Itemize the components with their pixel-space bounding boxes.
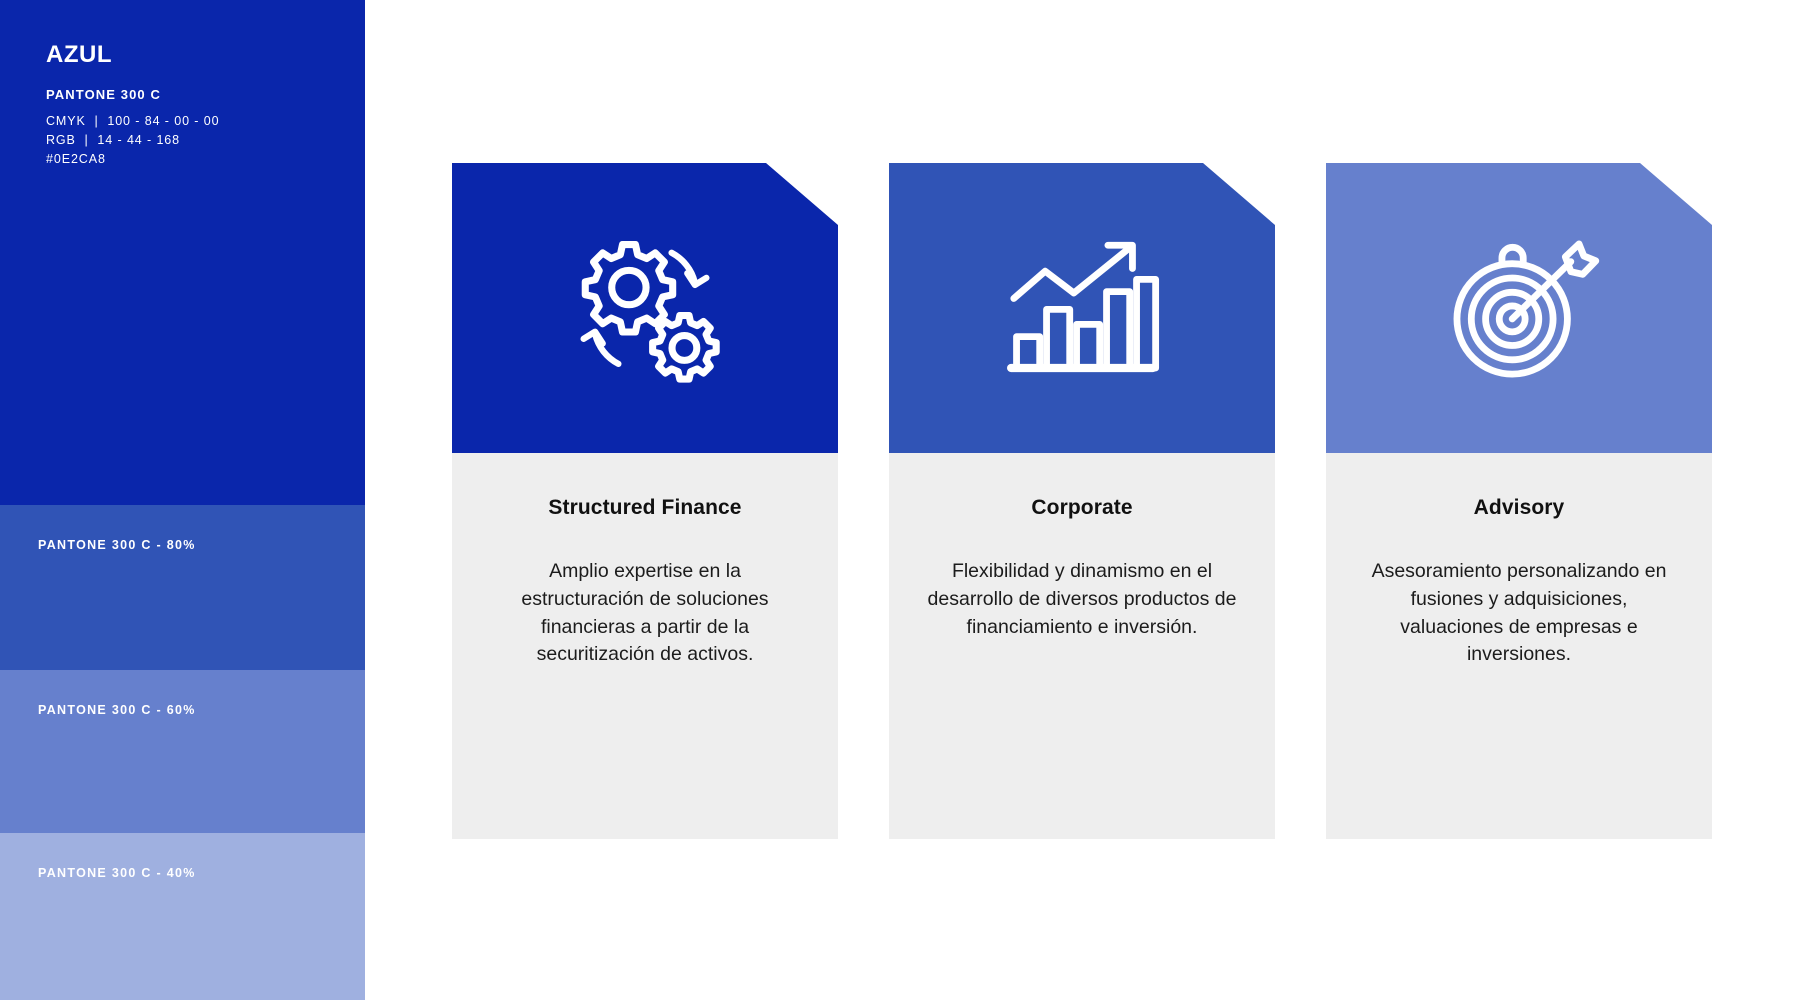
card-description-3: Asesoramiento personalizando en fusiones… [1362,558,1676,669]
palette-hex-value: #0E2CA8 [46,150,219,169]
card-title-1: Structured Finance [488,495,802,520]
card-body-1: Structured Finance Amplio expertise en l… [452,453,838,839]
swatch-pantone-300c-40: PANTONE 300 C - 40% [0,833,365,1000]
palette-spec-block: PANTONE 300 C CMYK | 100 - 84 - 00 - 00 … [46,86,219,168]
swatch-label-80: PANTONE 300 C - 80% [38,538,196,552]
color-swatch-column: AZUL PANTONE 300 C CMYK | 100 - 84 - 00 … [0,0,365,1000]
palette-name: AZUL [46,42,219,68]
card-description-2: Flexibilidad y dinamismo en el desarroll… [925,558,1239,641]
swatch-label-60: PANTONE 300 C - 60% [38,703,196,717]
service-card-structured-finance[interactable]: Structured Finance Amplio expertise en l… [452,163,838,839]
service-cards-group: Structured Finance Amplio expertise en l… [452,163,1712,839]
card-body-2: Corporate Flexibilidad y dinamismo en el… [889,453,1275,839]
palette-rgb-value: RGB | 14 - 44 - 168 [46,131,219,150]
target-arrow-icon [1435,233,1603,383]
palette-cmyk-value: CMYK | 100 - 84 - 00 - 00 [46,112,219,131]
palette-pantone-code: PANTONE 300 C [46,86,219,105]
slide-canvas: AZUL PANTONE 300 C CMYK | 100 - 84 - 00 … [0,0,1800,1000]
swatch-pantone-300c-60: PANTONE 300 C - 60% [0,670,365,833]
bar-chart-growth-icon [998,233,1166,383]
card-header-1 [452,163,838,453]
gears-cycle-icon [561,233,729,383]
card-description-1: Amplio expertise en la estructuración de… [488,558,802,669]
swatch-pantone-300c-100: AZUL PANTONE 300 C CMYK | 100 - 84 - 00 … [0,0,365,505]
palette-header: AZUL PANTONE 300 C CMYK | 100 - 84 - 00 … [46,42,219,168]
service-card-corporate[interactable]: Corporate Flexibilidad y dinamismo en el… [889,163,1275,839]
card-body-3: Advisory Asesoramiento personalizando en… [1326,453,1712,839]
card-title-3: Advisory [1362,495,1676,520]
card-header-2 [889,163,1275,453]
card-title-2: Corporate [925,495,1239,520]
service-card-advisory[interactable]: Advisory Asesoramiento personalizando en… [1326,163,1712,839]
swatch-label-40: PANTONE 300 C - 40% [38,866,196,880]
card-header-3 [1326,163,1712,453]
swatch-pantone-300c-80: PANTONE 300 C - 80% [0,505,365,670]
